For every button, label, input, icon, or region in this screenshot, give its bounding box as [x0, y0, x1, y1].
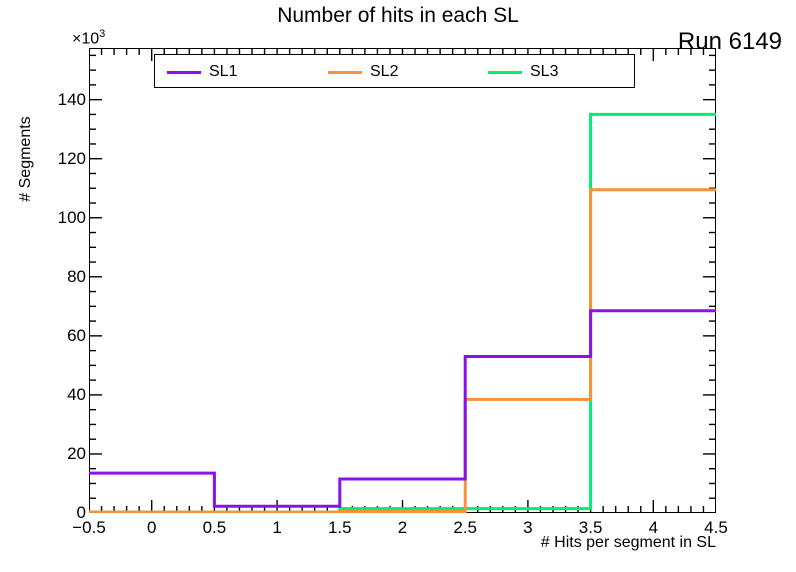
legend-label: SL2 — [370, 64, 398, 80]
legend-item-sl1[interactable]: SL1 — [167, 63, 237, 81]
x-tick-label: 4 — [623, 518, 683, 538]
legend: SL1SL2SL3 — [154, 54, 635, 88]
root-canvas: Number of hits in each SL Run 6149 # Seg… — [0, 0, 796, 572]
legend-label: SL3 — [530, 64, 558, 80]
legend-swatch-icon — [167, 71, 201, 74]
x-tick-label: 2.5 — [435, 518, 495, 538]
x-tick-label: 3.5 — [561, 518, 621, 538]
histogram-canvas — [89, 48, 716, 513]
legend-label: SL1 — [209, 64, 237, 80]
x-tick-label: 1.5 — [310, 518, 370, 538]
x-tick-label: 3 — [498, 518, 558, 538]
x-tick-label: 4.5 — [686, 518, 746, 538]
legend-swatch-icon — [488, 71, 522, 74]
x-tick-label: −0.5 — [59, 518, 119, 538]
legend-swatch-icon — [328, 71, 362, 74]
x-tick-label: 0 — [122, 518, 182, 538]
x-tick-label: 1 — [247, 518, 307, 538]
legend-item-sl2[interactable]: SL2 — [328, 63, 398, 81]
legend-item-sl3[interactable]: SL3 — [488, 63, 558, 81]
x-tick-label: 0.5 — [184, 518, 244, 538]
x-tick-label: 2 — [373, 518, 433, 538]
